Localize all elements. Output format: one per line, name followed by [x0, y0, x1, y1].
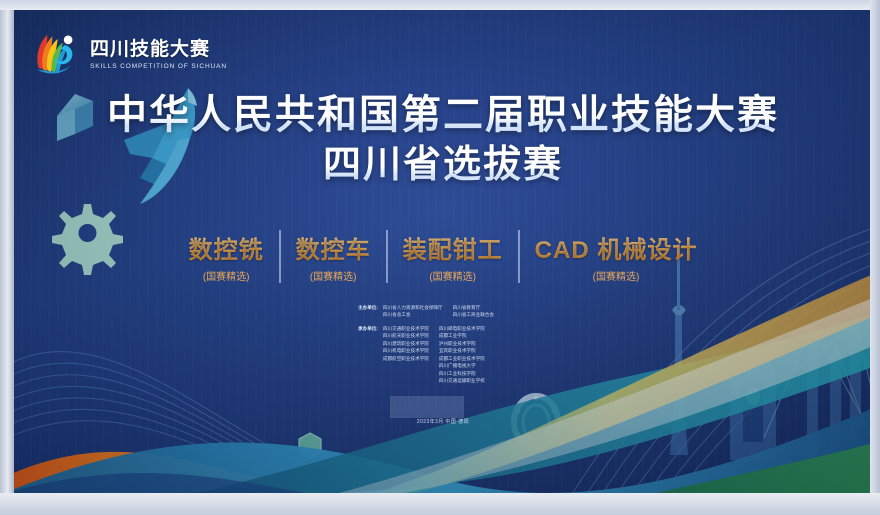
category-item: 数控车 (国赛精选)	[279, 230, 386, 283]
logo-name-en: SKILLS COMPETITION OF SICHUAN	[90, 63, 227, 70]
host-left-column: 四川省人力资源和社会保障厅 四川省总工会	[383, 304, 443, 319]
category-note: (国赛精选)	[403, 268, 503, 283]
wall-edge-top	[0, 0, 880, 10]
co-entry: 四川交通职业技术学院	[383, 325, 429, 332]
competition-logo: 四川技能大赛 SKILLS COMPETITION OF SICHUAN	[30, 26, 227, 78]
category-name: 数控车	[296, 230, 371, 265]
translucent-patch	[390, 396, 464, 418]
host-entry: 四川省教育厅	[453, 304, 494, 311]
photographed-banner-scene: 四川技能大赛 SKILLS COMPETITION OF SICHUAN 中华人…	[0, 0, 880, 515]
event-banner-board: 四川技能大赛 SKILLS COMPETITION OF SICHUAN 中华人…	[12, 8, 874, 494]
co-entry: 宜宾职业技术学院	[439, 347, 485, 354]
banner-title: 中华人民共和国第二届职业技能大赛 四川省选拔赛	[12, 90, 874, 190]
wall-edge-right	[870, 0, 880, 515]
host-organizers: 主办单位: 四川省人力资源和社会保障厅 四川省总工会 四川省教育厅 四川省工商业…	[358, 304, 568, 319]
host-right-column: 四川省教育厅 四川省工商业联合会	[453, 304, 494, 319]
organizer-credits: 主办单位: 四川省人力资源和社会保障厅 四川省总工会 四川省教育厅 四川省工商业…	[358, 304, 568, 390]
co-entry: 泸州职业技术学院	[439, 340, 485, 347]
co-entry: 四川航天职业技术学院	[383, 332, 429, 339]
host-entry: 四川省总工会	[383, 311, 443, 318]
category-name: CAD 机械设计	[535, 230, 698, 265]
co-entry: 四川交通运输职业学校	[439, 377, 485, 384]
co-entry: 成都航空职业技术学院	[383, 355, 429, 362]
wall-edge-left	[0, 0, 14, 515]
category-name: 数控铣	[189, 230, 264, 265]
co-organizers: 承办单位: 四川交通职业技术学院 四川航天职业技术学院 四川建筑职业技术学院 四…	[358, 325, 568, 385]
title-line-2: 四川省选拔赛	[12, 141, 874, 190]
co-left-column: 四川交通职业技术学院 四川航天职业技术学院 四川建筑职业技术学院 四川机电职业技…	[383, 325, 429, 385]
category-name: 装配钳工	[403, 230, 503, 265]
title-line-1: 中华人民共和国第二届职业技能大赛	[12, 90, 874, 141]
category-item: CAD 机械设计 (国赛精选)	[518, 230, 713, 283]
floor-edge-bottom	[0, 493, 880, 515]
sichuan-skills-flame-logo-icon	[30, 26, 82, 78]
co-entry: 四川工业科技学院	[439, 370, 485, 377]
date-location-stamp: 2023年3月 中国·德阳	[12, 418, 874, 425]
category-note: (国赛精选)	[189, 268, 264, 283]
co-label: 承办单位:	[358, 325, 378, 385]
category-item: 装配钳工 (国赛精选)	[386, 230, 518, 283]
co-entry: 四川邮电职业技术学院	[439, 325, 485, 332]
category-list: 数控铣 (国赛精选) 数控车 (国赛精选) 装配钳工 (国赛精选) CAD 机械…	[12, 230, 874, 283]
category-item: 数控铣 (国赛精选)	[174, 230, 279, 283]
co-entry: 成都工业职业技术学院	[439, 355, 485, 362]
logo-name-cn: 四川技能大赛	[90, 34, 227, 61]
co-right-column: 四川邮电职业技术学院 成都工业学院 泸州职业技术学院 宜宾职业技术学院 成都工业…	[439, 325, 485, 385]
host-entry: 四川省人力资源和社会保障厅	[383, 304, 443, 311]
category-note: (国赛精选)	[535, 268, 698, 283]
co-entry: 四川机电职业技术学院	[383, 347, 429, 354]
co-entry: 四川建筑职业技术学院	[383, 340, 429, 347]
co-entry: 成都工业学院	[439, 332, 485, 339]
host-entry: 四川省工商业联合会	[453, 311, 494, 318]
co-entry: 四川广播电视大学	[439, 362, 485, 369]
host-label: 主办单位:	[358, 304, 378, 319]
category-note: (国赛精选)	[296, 268, 371, 283]
